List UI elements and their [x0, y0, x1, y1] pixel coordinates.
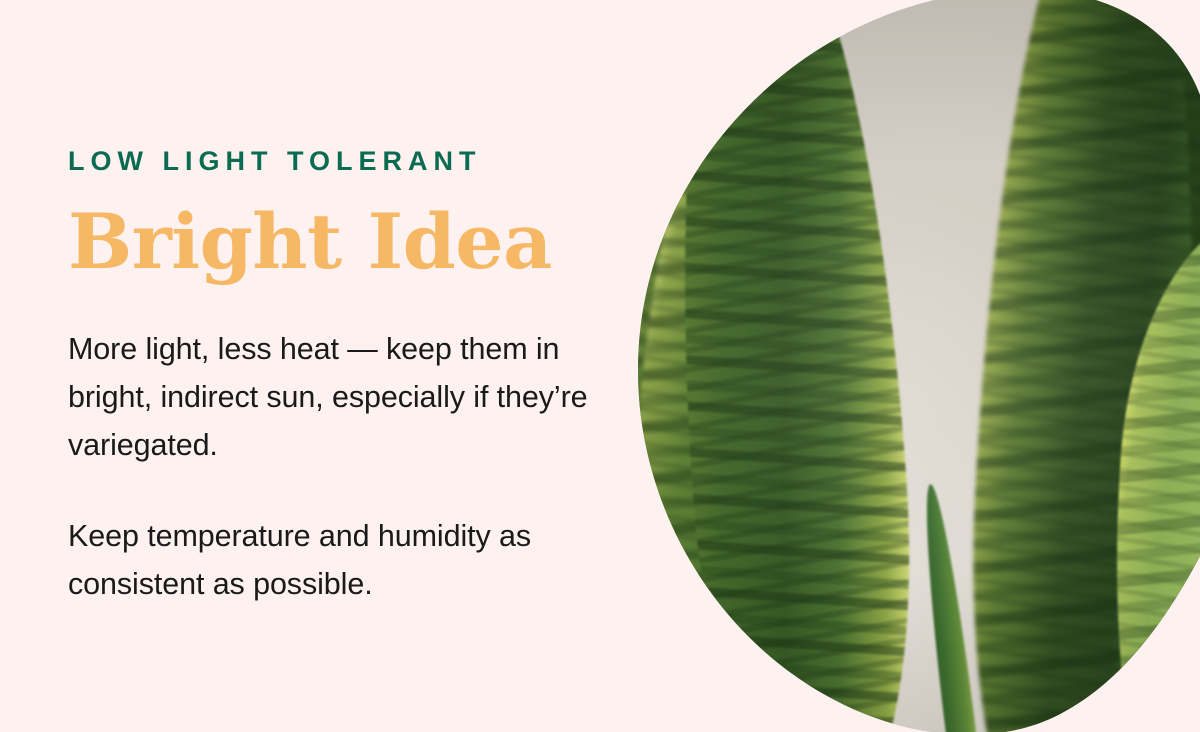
- text-column: Low Light Tolerant Bright Idea More ligh…: [68, 0, 628, 732]
- eyebrow-label: Low Light Tolerant: [68, 146, 481, 177]
- plant-care-card: Low Light Tolerant Bright Idea More ligh…: [0, 0, 1200, 732]
- body-paragraph-2: Keep temperature and humidity as consist…: [68, 512, 618, 608]
- body-paragraph-1: More light, less heat — keep them in bri…: [68, 325, 613, 469]
- snake-plant-photo: [600, 0, 1200, 732]
- page-title: Bright Idea: [68, 204, 552, 280]
- plant-photo-region: [600, 0, 1200, 732]
- blob-clip-mask: [600, 0, 1200, 732]
